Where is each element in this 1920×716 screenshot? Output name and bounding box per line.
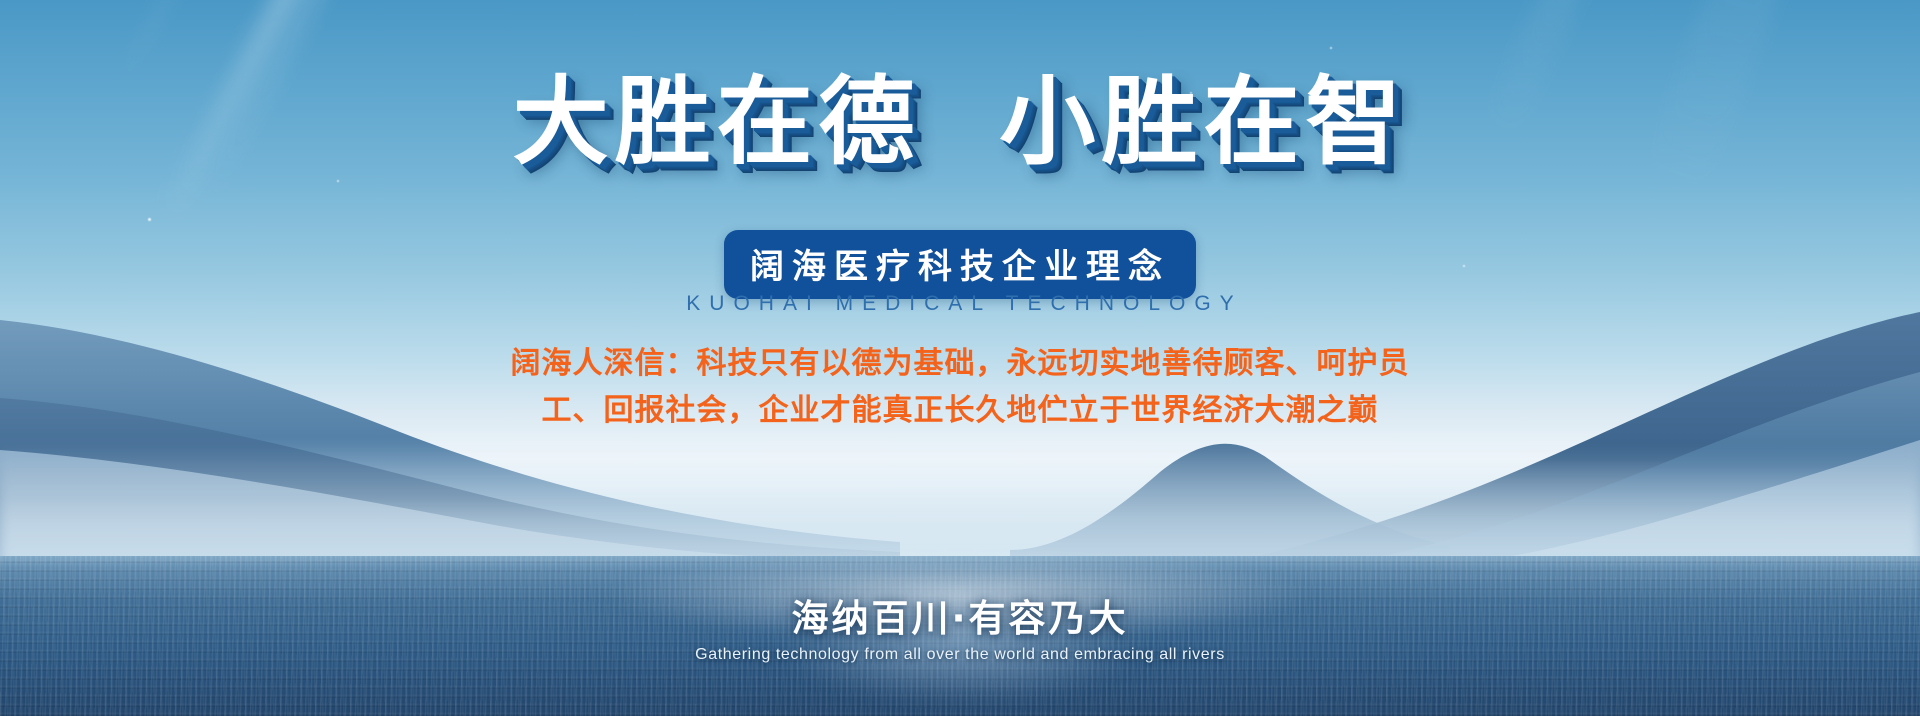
sparkle-icon (148, 218, 151, 221)
status-badge: 阔海医疗科技企业理念 (724, 230, 1196, 299)
page-title: 大胜在德 小胜在智 (0, 44, 1920, 183)
motto-english-text: Gathering technology from all over the w… (0, 646, 1920, 664)
company-creed-paragraph: 阔海人深信：科技只有以德为基础，永远切实地善待顾客、呵护员 工、回报社会，企业才… (430, 340, 1490, 434)
badge-english-subtitle: KUOHAI MEDICAL TECHNOLOGY (0, 292, 1920, 316)
company-philosophy-banner: 大胜在德 小胜在智 阔海医疗科技企业理念 KUOHAI MEDICAL TECH… (0, 0, 1920, 716)
creed-line: 阔海人深信：科技只有以德为基础，永远切实地善待顾客、呵护员 (430, 340, 1490, 387)
motto-text: 海纳百川·有容乃大 (0, 588, 1920, 642)
badge-container: 阔海医疗科技企业理念 (0, 230, 1920, 299)
creed-line: 工、回报社会，企业才能真正长久地伫立于世界经济大潮之巅 (430, 387, 1490, 434)
